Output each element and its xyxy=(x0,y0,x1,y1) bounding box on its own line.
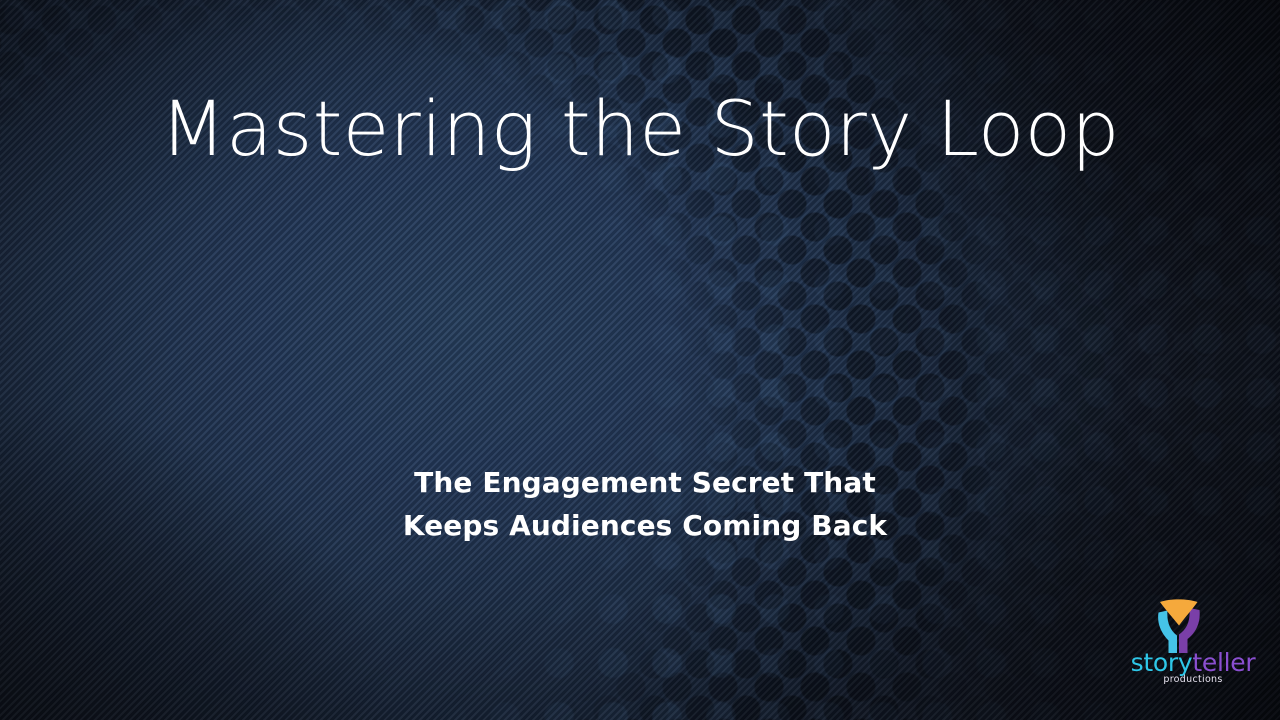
presentation-slide: Mastering the Story Loop The Engagement … xyxy=(0,0,1280,720)
slide-subtitle-line-2: Keeps Audiences Coming Back xyxy=(10,505,1280,548)
slide-title: Mastering the Story Loop xyxy=(0,89,1280,170)
storyteller-productions-logo: storyteller productions xyxy=(1118,594,1268,700)
storyteller-y-mark-icon xyxy=(1148,594,1210,656)
logo-wordmark: storyteller xyxy=(1118,650,1268,675)
logo-wordmark-story: story xyxy=(1131,648,1193,677)
logo-wordmark-teller: teller xyxy=(1192,648,1255,677)
slide-subtitle: The Engagement Secret That Keeps Audienc… xyxy=(10,462,1280,547)
logo-tagline: productions xyxy=(1118,674,1268,685)
slide-content: Mastering the Story Loop The Engagement … xyxy=(0,0,1280,720)
slide-subtitle-line-1: The Engagement Secret That xyxy=(10,462,1280,505)
